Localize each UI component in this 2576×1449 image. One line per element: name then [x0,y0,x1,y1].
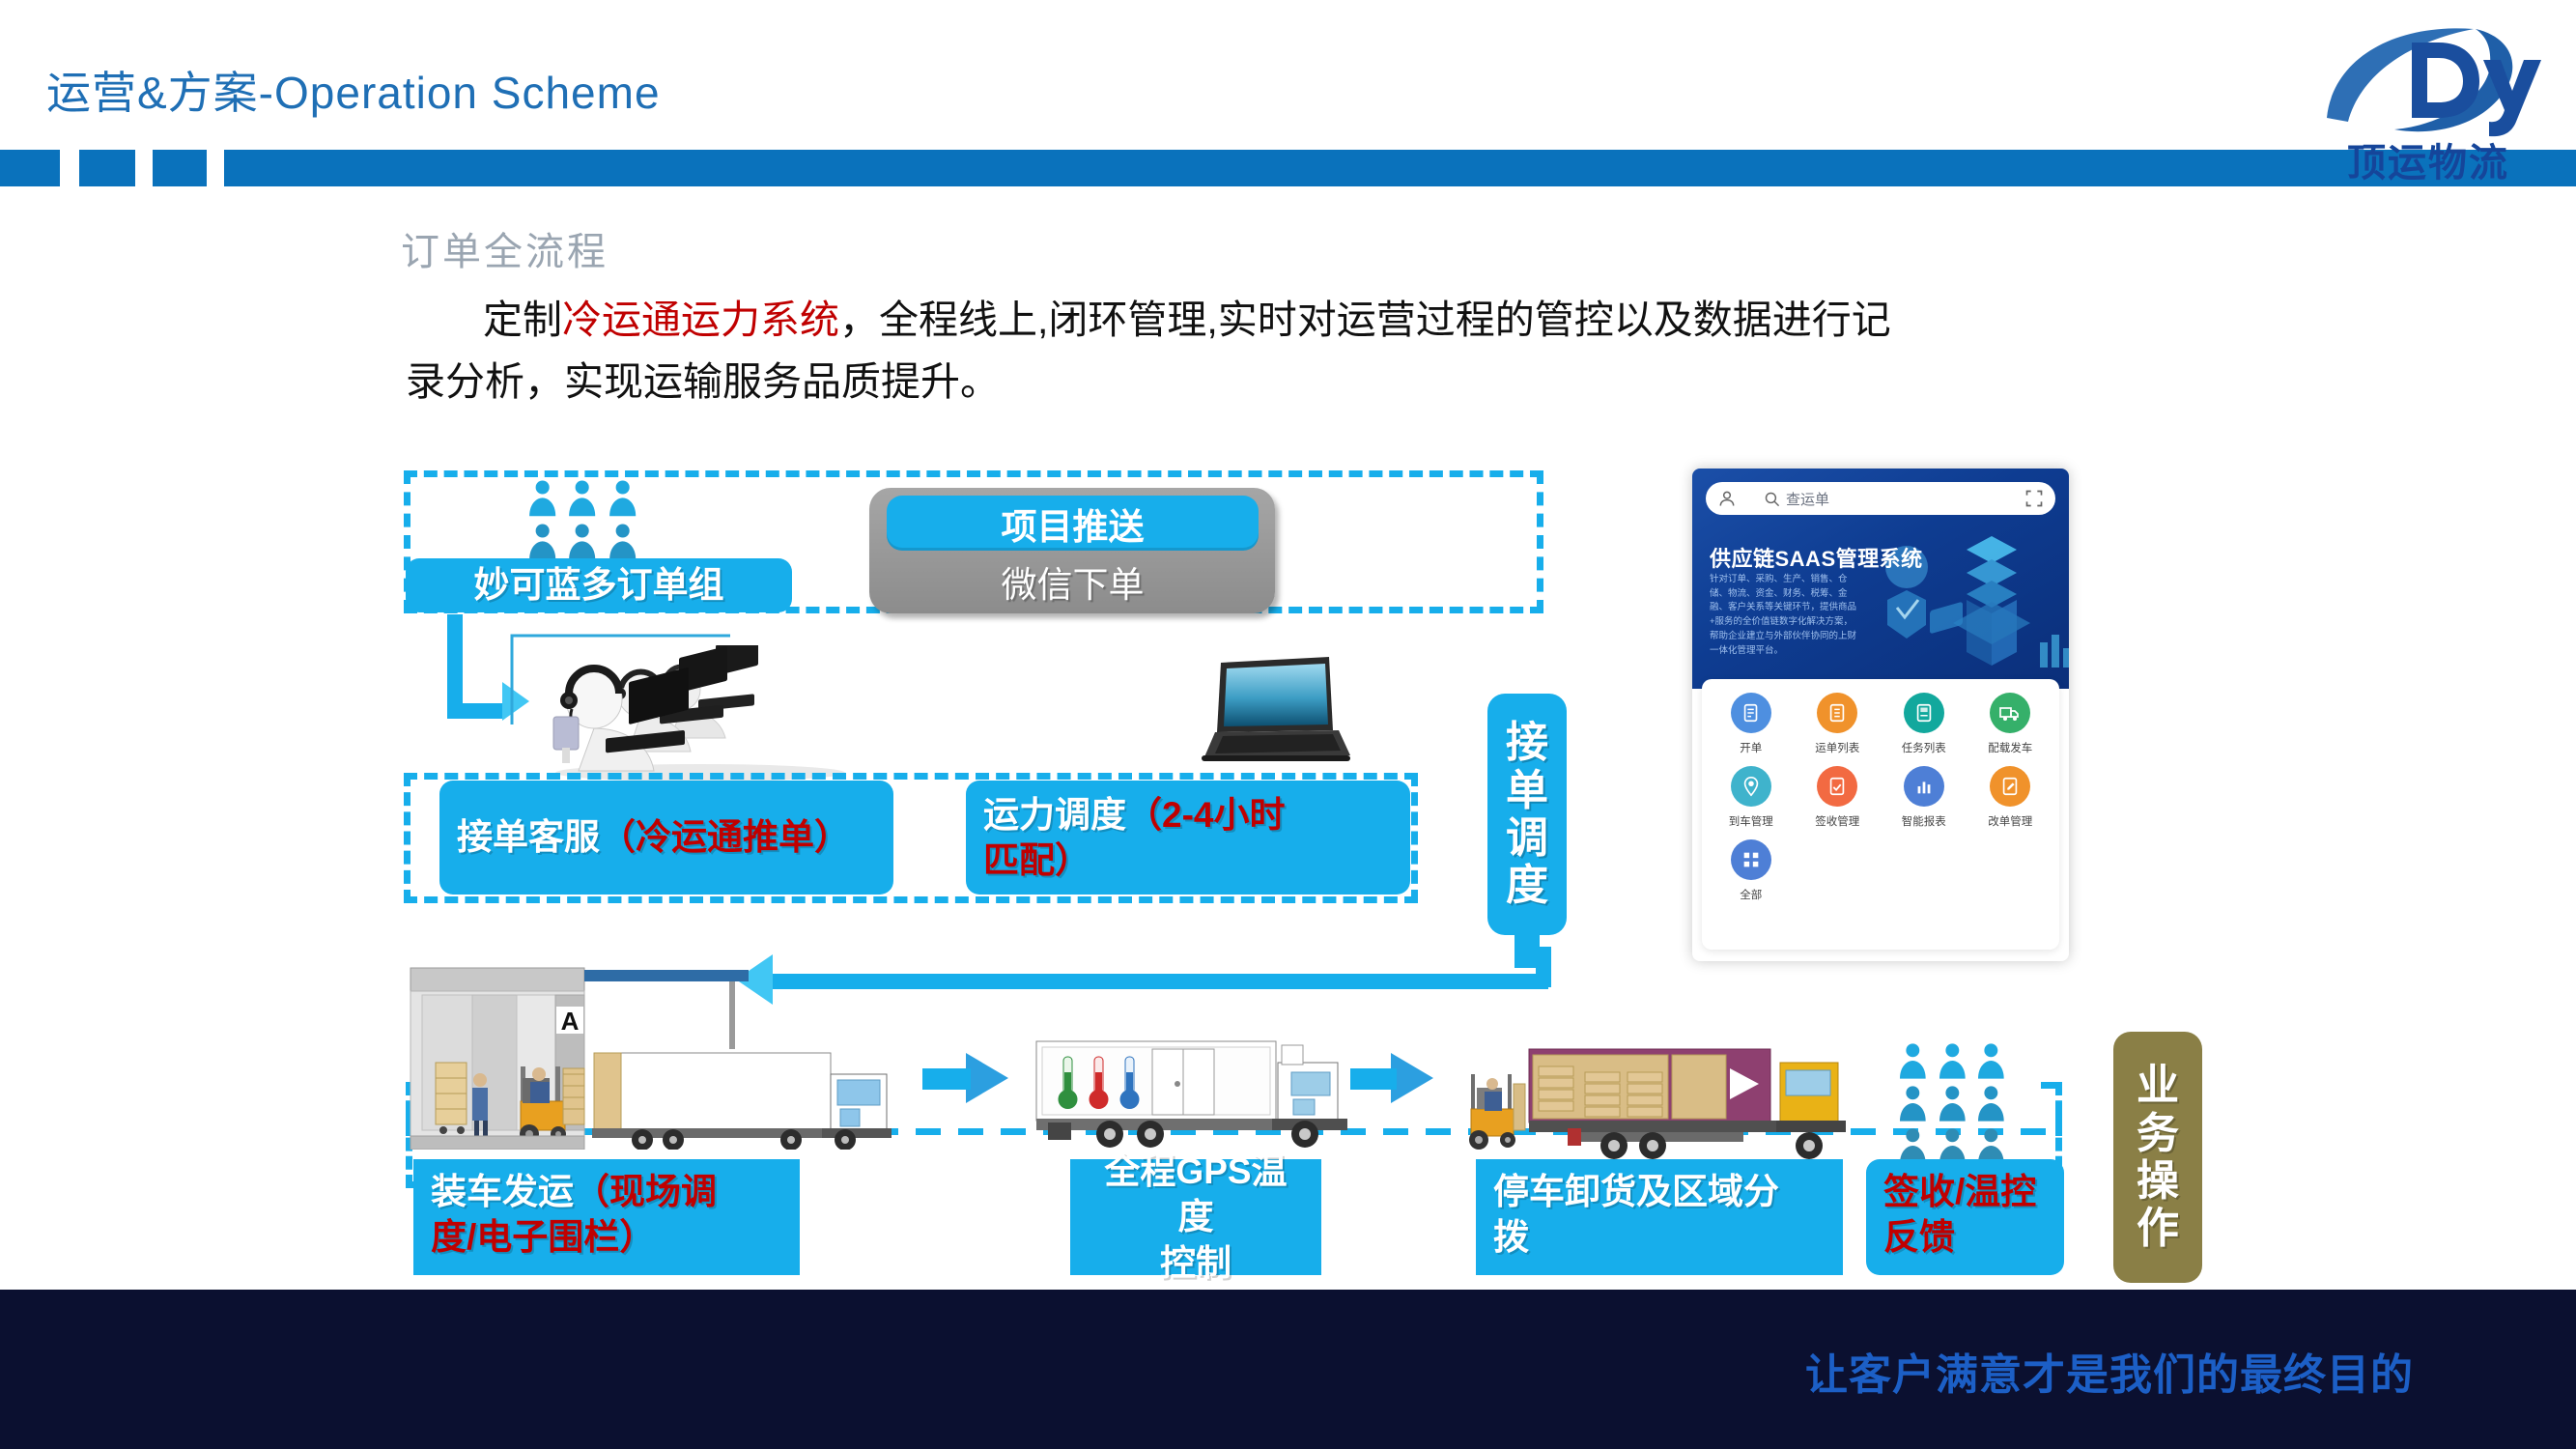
capacity-dispatch-label: 运力调度（2-4小时 匹配） [983,792,1285,884]
app-search-bar[interactable]: 查运单 [1706,482,2055,515]
gps-temperature-label: 全程GPS温度 控制 [1088,1149,1304,1286]
scan-icon[interactable] [2024,489,2044,508]
arrow-reefer-to-unload-icon [1391,1053,1433,1103]
app-tile-all[interactable]: 全部 [1708,839,1795,913]
invoice-icon [1731,693,1771,733]
person-icon [1973,1041,2009,1080]
app-tile-arrival[interactable]: 到车管理 [1708,766,1795,839]
app-tile-label: 改单管理 [1988,813,2032,829]
logo-company-name: 顶运物流 [2307,131,2549,187]
app-tile-waybill-list[interactable]: 运单列表 [1795,693,1882,766]
person-icon [1935,1041,1970,1080]
app-hero-banner: 查运单 供应链SAAS管理系统 针对订单、采购、生产、销售、仓储、物流、资金、财… [1692,469,2069,689]
grid-all-icon [1731,839,1771,880]
gps-temperature-box[interactable]: 全程GPS温度 控制 [1070,1159,1321,1275]
user-icon [1717,489,1737,508]
app-tile-dispatch-truck[interactable]: 配载发车 [1967,693,2054,766]
app-icon-grid: 开单 运单列表 任务列表 配载发车 到车管理 [1702,679,2059,950]
app-tile-label: 开单 [1740,740,1762,755]
person-icon [564,522,600,561]
intro-highlight: 冷运通运力系统 [562,298,839,342]
app-tile-label: 智能报表 [1902,813,1946,829]
loading-dispatch-box[interactable]: 装车发运（现场调 度/电子围栏） [413,1159,800,1275]
customer-order-group-label: 妙可蓝多订单组 [474,562,724,608]
capacity-dispatch-box[interactable]: 运力调度（2-4小时 匹配） [966,781,1410,895]
person-icon [1973,1084,2009,1122]
arrival-pin-icon [1731,766,1771,807]
app-hero-title: 供应链SAAS管理系统 [1710,542,1923,573]
person-icon [564,478,600,518]
app-tile-signoff[interactable]: 签收管理 [1795,766,1882,839]
project-push-label: 项目推送 [1002,497,1145,550]
laptop-illustration [1188,655,1352,771]
footer-bar: 让客户满意才是我们的最终目的 [0,1290,2576,1449]
signoff-icon [1817,766,1857,807]
app-tile-label: 全部 [1740,887,1762,902]
signoff-people-group-icon [1895,1041,2009,1165]
section-label: 订单全流程 [401,220,609,276]
dy-logo-icon [2319,17,2541,138]
waybill-list-icon [1817,693,1857,733]
arrow-warehouse-to-reefer-shaft [922,1068,971,1090]
app-search-placeholder: 查运单 [1786,489,1829,509]
signoff-feedback-box[interactable]: 签收/温控 反馈 [1866,1159,2064,1275]
app-tile-label: 配载发车 [1988,740,2032,755]
intro-paragraph: 定制冷运通运力系统，全程线上,闭环管理,实时对运营过程的管控以及数据进行记 录分… [406,290,2144,412]
intro-text-lead: 定制 [483,298,562,342]
intro-text-line3: 录分析，实现运输服务品质提升。 [406,352,1000,413]
task-list-icon [1904,693,1944,733]
app-tile-task-list[interactable]: 任务列表 [1881,693,1967,766]
loading-dispatch-label: 装车发运（现场调 度/电子围栏） [431,1169,717,1261]
unload-sorting-label: 停车卸货及区域分 拨 [1493,1169,1779,1261]
refrigerated-truck-illustration [1019,1022,1405,1162]
arrow-warehouse-to-reefer-icon [966,1053,1008,1103]
app-tile-label: 任务列表 [1902,740,1946,755]
side-label-order-dispatch: 接单调度 [1487,694,1567,935]
svg-text:A: A [561,1007,580,1036]
warehouse-dock-illustration: A [401,956,942,1150]
order-service-label: 接单客服（冷运通推单） [457,814,850,860]
search-icon [1764,491,1780,507]
signoff-feedback-label: 签收/温控 反馈 [1883,1169,2036,1261]
edit-order-icon [1990,766,2030,807]
project-push-button[interactable]: 项目推送 [887,496,1259,551]
company-logo: 顶运物流 [2307,17,2549,196]
app-hero-description: 针对订单、采购、生产、销售、仓储、物流、资金、财务、税筹、金融、客户关系等关键环… [1710,573,1859,658]
arrow-reefer-to-unload-shaft [1350,1068,1397,1090]
person-icon [524,522,560,561]
person-icon [1895,1084,1931,1122]
person-icon [605,522,640,561]
person-icon [524,478,560,518]
unload-sorting-box[interactable]: 停车卸货及区域分 拨 [1476,1159,1843,1275]
call-center-agents-illustration [536,645,855,785]
dispatch-truck-icon [1990,693,2030,733]
header-divider-rule [0,150,2576,186]
app-tile-label: 运单列表 [1815,740,1859,755]
connector-to-callcenter [447,703,505,719]
person-icon [1895,1041,1931,1080]
chart-icon [1904,766,1944,807]
person-icon [605,478,640,518]
mobile-app-preview[interactable]: 查运单 供应链SAAS管理系统 针对订单、采购、生产、销售、仓储、物流、资金、财… [1692,469,2069,961]
person-icon [1935,1084,1970,1122]
app-tile-kaidan[interactable]: 开单 [1708,693,1795,766]
app-tile-label: 签收管理 [1815,813,1859,829]
app-tile-edit-order[interactable]: 改单管理 [1967,766,2054,839]
connector-down-left [447,614,463,711]
intro-text-rest: ，全程线上,闭环管理,实时对运营过程的管控以及数据进行记 [839,298,1891,342]
side-label-business-operation: 业务操作 [2113,1032,2202,1283]
customer-order-group-box[interactable]: 妙可蓝多订单组 [406,558,792,612]
page-title: 运营&方案-Operation Scheme [46,58,661,122]
app-tile-label: 到车管理 [1729,813,1773,829]
order-service-box[interactable]: 接单客服（冷运通推单） [439,781,893,895]
container-truck-illustration [1444,1005,1850,1164]
app-tile-report[interactable]: 智能报表 [1881,766,1967,839]
isometric-hero-graphic [1847,507,2069,689]
wechat-order-label: 微信下单 [887,556,1259,607]
footer-slogan: 让客户满意才是我们的最终目的 [1805,1340,2414,1402]
